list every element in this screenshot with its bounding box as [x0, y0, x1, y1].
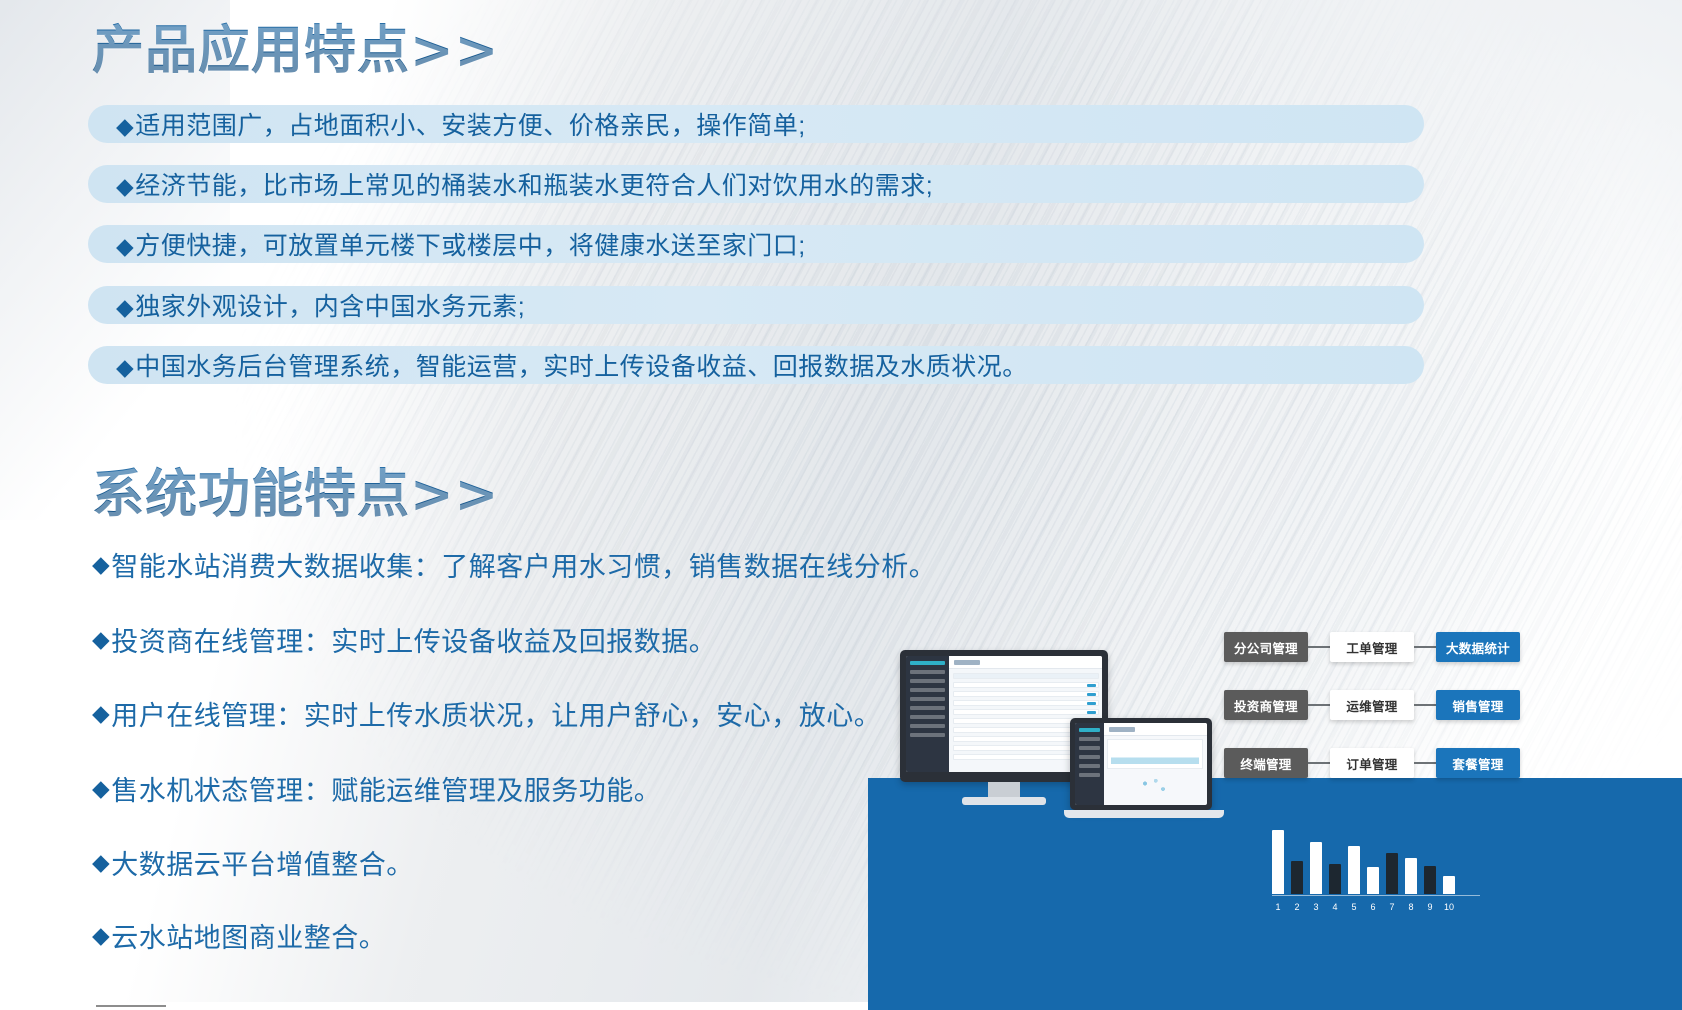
sidebar-icon-3 [910, 679, 945, 683]
system-feature-label-4: 售水机状态管理：赋能运维管理及服务功能。 [111, 769, 661, 808]
diamond-bullet-icon: ◆ [116, 354, 134, 380]
table-header-row [953, 673, 1099, 679]
bar-label-7: 7 [1386, 902, 1398, 912]
bar-8 [1405, 858, 1417, 894]
system-feature-label-3: 用户在线管理：实时上传水质状况，让用户舒心，安心，放心。 [111, 694, 881, 733]
slide-content: 产品应用特点>> ◆适用范围广，占地面积小、安装方便、价格亲民，操作简单; ◆经… [0, 0, 1682, 1010]
bar-chart: 12345678910 [1272, 806, 1480, 912]
map-widget [1109, 773, 1199, 799]
flow-connector [1414, 762, 1436, 764]
platform-flowchart: 分公司管理 工单管理 大数据统计 投资商管理 运维管理 销售管理 终端管理 订单… [1224, 632, 1524, 778]
platform-illustration: 分公司管理 工单管理 大数据统计 投资商管理 运维管理 销售管理 终端管理 订单… [868, 610, 1682, 1010]
diamond-bullet-icon: ◆ [116, 294, 134, 320]
system-feature-label-6: 云水站地图商业整合。 [111, 916, 386, 955]
product-feature-label-3: 方便快捷，可放置单元楼下或楼层中，将健康水送至家门口; [135, 232, 805, 260]
system-feature-item-1: ◆智能水站消费大数据收集：了解客户用水习惯，销售数据在线分析。 [92, 545, 936, 584]
sidebar-icon-5 [910, 697, 945, 701]
bottom-rule [96, 1005, 166, 1007]
bar-7 [1386, 853, 1398, 894]
sidebar-icon-5 [1079, 764, 1100, 768]
product-feature-label-4: 独家外观设计，内含中国水务元素; [135, 293, 525, 321]
sidebar-icon-7 [910, 715, 945, 719]
diamond-bullet-icon: ◆ [92, 775, 110, 802]
table-row [953, 682, 1099, 688]
sidebar-icon-1 [910, 661, 945, 665]
flow-box-ops-management[interactable]: 运维管理 [1330, 690, 1414, 720]
laptop-mockup [1064, 718, 1224, 830]
bar-5 [1348, 846, 1360, 894]
sidebar-icon-4 [910, 688, 945, 692]
dashboard-logo [954, 660, 980, 665]
bar-label-9: 9 [1424, 902, 1436, 912]
section-title-system-features: 系统功能特点>> [92, 452, 499, 527]
sidebar-icon-6 [910, 706, 945, 710]
flow-connector [1414, 704, 1436, 706]
flow-box-big-data-statistics[interactable]: 大数据统计 [1436, 632, 1520, 662]
flow-connector [1308, 762, 1330, 764]
sidebar-icon-2 [1079, 737, 1100, 741]
row-status-badge [1087, 684, 1096, 687]
flow-box-sales-management[interactable]: 销售管理 [1436, 690, 1520, 720]
diamond-bullet-icon: ◆ [116, 113, 134, 139]
product-feature-text-1: ◆适用范围广，占地面积小、安装方便、价格亲民，操作简单; [88, 106, 806, 142]
flow-box-package-management[interactable]: 套餐管理 [1436, 748, 1520, 778]
product-feature-text-5: ◆中国水务后台管理系统，智能运营，实时上传设备收益、回报数据及水质状况。 [88, 347, 1028, 383]
product-feature-pill-4: ◆独家外观设计，内含中国水务元素; [88, 286, 1424, 324]
flow-connector [1308, 646, 1330, 648]
sidebar-icon-4 [1079, 755, 1100, 759]
sidebar-icon-2 [910, 670, 945, 674]
table-row [953, 709, 1099, 715]
system-feature-item-6: ◆云水站地图商业整合。 [92, 916, 386, 955]
flow-connector [1414, 646, 1436, 648]
bar-2 [1291, 861, 1303, 894]
table-row [953, 700, 1099, 706]
laptop-chart-card [1107, 739, 1203, 769]
diamond-bullet-icon: ◆ [92, 922, 110, 949]
flow-box-terminal-management[interactable]: 终端管理 [1224, 748, 1308, 778]
diamond-bullet-icon: ◆ [92, 626, 110, 653]
laptop-base [1064, 810, 1224, 818]
flow-connector [1308, 704, 1330, 706]
flow-box-branch-management[interactable]: 分公司管理 [1224, 632, 1308, 662]
product-feature-text-2: ◆经济节能，比市场上常见的桶装水和瓶装水更符合人们对饮用水的需求; [88, 166, 933, 202]
row-status-badge [1087, 693, 1096, 696]
product-feature-label-1: 适用范围广，占地面积小、安装方便、价格亲民，操作简单; [135, 112, 805, 140]
dashboard-topbar [949, 656, 1102, 669]
flowchart-row-1: 分公司管理 工单管理 大数据统计 [1224, 632, 1524, 662]
bar-label-1: 1 [1272, 902, 1284, 912]
bar-label-8: 8 [1405, 902, 1417, 912]
bar-1 [1272, 830, 1284, 894]
diamond-bullet-icon: ◆ [116, 173, 134, 199]
flow-box-investor-management[interactable]: 投资商管理 [1224, 690, 1308, 720]
laptop-lid [1070, 718, 1212, 810]
bar-label-3: 3 [1310, 902, 1322, 912]
system-feature-label-2: 投资商在线管理：实时上传设备收益及回报数据。 [111, 620, 716, 659]
system-feature-item-2: ◆投资商在线管理：实时上传设备收益及回报数据。 [92, 620, 716, 659]
flow-box-order-management[interactable]: 订单管理 [1330, 748, 1414, 778]
product-feature-pill-5: ◆中国水务后台管理系统，智能运营，实时上传设备收益、回报数据及水质状况。 [88, 346, 1424, 384]
monitor-stand-base [962, 797, 1046, 805]
product-feature-text-4: ◆独家外观设计，内含中国水务元素; [88, 287, 525, 323]
section-title-product-features: 产品应用特点>> [92, 8, 499, 83]
bar-3 [1310, 842, 1322, 894]
bar-chart-x-labels: 12345678910 [1272, 902, 1480, 912]
bar-10 [1443, 876, 1455, 894]
product-feature-pill-1: ◆适用范围广，占地面积小、安装方便、价格亲民，操作简单; [88, 105, 1424, 143]
product-feature-text-3: ◆方便快捷，可放置单元楼下或楼层中，将健康水送至家门口; [88, 226, 806, 262]
system-feature-item-5: ◆大数据云平台增值整合。 [92, 843, 414, 882]
bar-label-5: 5 [1348, 902, 1360, 912]
sidebar-icon-3 [1079, 746, 1100, 750]
bar-9 [1424, 866, 1436, 894]
row-status-badge [1087, 711, 1096, 714]
flowchart-row-2: 投资商管理 运维管理 销售管理 [1224, 690, 1524, 720]
diamond-bullet-icon: ◆ [92, 849, 110, 876]
table-row [953, 691, 1099, 697]
bar-chart-plot-area [1272, 812, 1480, 894]
diamond-bullet-icon: ◆ [116, 233, 134, 259]
line-chart-graphic [1111, 752, 1199, 764]
laptop-screen [1075, 723, 1207, 805]
diamond-bullet-icon: ◆ [92, 700, 110, 727]
bar-label-4: 4 [1329, 902, 1341, 912]
sidebar-icon-6 [1079, 773, 1100, 777]
laptop-dashboard-topbar [1104, 723, 1207, 736]
system-feature-label-5: 大数据云平台增值整合。 [111, 843, 414, 882]
product-feature-label-5: 中国水务后台管理系统，智能运营，实时上传设备收益、回报数据及水质状况。 [135, 353, 1028, 381]
system-feature-item-3: ◆用户在线管理：实时上传水质状况，让用户舒心，安心，放心。 [92, 694, 881, 733]
product-feature-pill-2: ◆经济节能，比市场上常见的桶装水和瓶装水更符合人们对饮用水的需求; [88, 165, 1424, 203]
flow-box-work-order-management[interactable]: 工单管理 [1330, 632, 1414, 662]
laptop-dashboard-sidebar [1075, 723, 1104, 805]
dashboard-logo [1109, 727, 1135, 732]
bar-chart-axis [1272, 895, 1480, 896]
diamond-bullet-icon: ◆ [92, 551, 110, 578]
row-status-badge [1087, 702, 1096, 705]
product-feature-pill-3: ◆方便快捷，可放置单元楼下或楼层中，将健康水送至家门口; [88, 225, 1424, 263]
system-feature-item-4: ◆售水机状态管理：赋能运维管理及服务功能。 [92, 769, 661, 808]
sidebar-icon-9 [910, 733, 945, 737]
product-feature-label-2: 经济节能，比市场上常见的桶装水和瓶装水更符合人们对饮用水的需求; [135, 172, 933, 200]
sidebar-icon-8 [910, 724, 945, 728]
bar-6 [1367, 867, 1379, 894]
flowchart-row-3: 终端管理 订单管理 套餐管理 [1224, 748, 1524, 778]
system-feature-label-1: 智能水站消费大数据收集：了解客户用水习惯，销售数据在线分析。 [111, 545, 936, 584]
bar-label-6: 6 [1367, 902, 1379, 912]
bar-label-10: 10 [1443, 902, 1455, 912]
dashboard-sidebar [906, 656, 949, 772]
sidebar-icon-1 [1079, 728, 1100, 732]
bar-label-2: 2 [1291, 902, 1303, 912]
bar-4 [1329, 864, 1341, 894]
